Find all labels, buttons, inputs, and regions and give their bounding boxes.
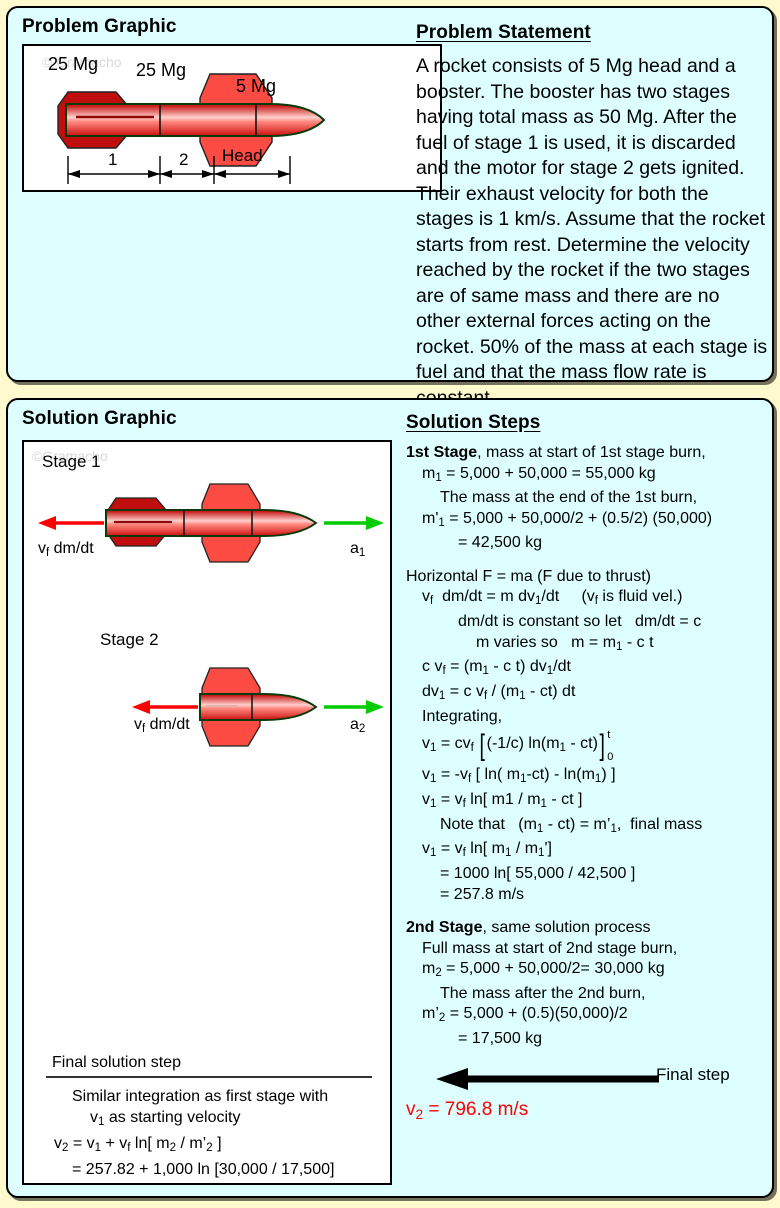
step-h-l4: m varies so m = m1 - c t [406, 633, 774, 658]
stage2-free-body-diagram [24, 654, 390, 784]
step-s2-l4: m’2 = 5,000 + (0.5)(50,000)/2 [406, 1004, 774, 1029]
step-v-l4: v1 = vf ln[ m1 / m1'] [406, 839, 774, 864]
thrust-label-stage1: vf dm/dt [38, 540, 94, 559]
problem-panel: Problem Graphic © Gramacho [6, 6, 774, 382]
step-v-l1: v1 = -vf [ ln( m1-ct) - ln(m1) ] [406, 765, 774, 790]
stage1-free-body-diagram [24, 464, 390, 614]
step-h-l5: c vf = (m1 - c t) dv1/dt [406, 657, 774, 682]
step-1st-stage-heading: 1st Stage, mass at start of 1st stage bu… [406, 443, 774, 464]
step-s1-l2: The mass at the end of the 1st burn, [406, 488, 774, 509]
step-h-l6: dv1 = c vf / (m1 - ct) dt [406, 682, 774, 707]
bracket-close-icon: ] [599, 734, 604, 758]
solution-graphic-box: ©Gramacho Stage 1 [22, 440, 392, 1185]
step-s1-l1: m1 = 5,000 + 50,000 = 55,000 kg [406, 464, 774, 489]
solution-graphic-title: Solution Graphic [22, 408, 177, 430]
step-h-l3: dm/dt is constant so let dm/dt = c [406, 612, 774, 633]
final-solution-step-body: Similar integration as first stage with … [38, 1086, 380, 1185]
stage2-label: Stage 2 [100, 630, 159, 650]
page-root: Problem Graphic © Gramacho [0, 0, 780, 1208]
step-s1-l4: = 42,500 kg [406, 533, 774, 554]
thrust-label-stage2: vf dm/dt [134, 716, 190, 735]
final-solution-step-box: Final solution step Similar integration … [38, 1054, 380, 1185]
final-step-arrow-row: Final step [406, 1060, 774, 1094]
final-line-1: Similar integration as first stage with [38, 1086, 380, 1107]
step-h-l7: Integrating, [406, 707, 774, 728]
problem-statement-block: Problem Statement A rocket consists of 5… [416, 22, 768, 411]
solution-panel: Solution Graphic ©Gramacho Stage 1 [6, 398, 774, 1198]
left-arrow-icon [434, 1068, 664, 1090]
step-s2-l3: The mass after the 2nd burn, [406, 984, 774, 1005]
divider [46, 1076, 372, 1078]
final-step-label: Final step [656, 1065, 730, 1086]
problem-statement-text: A rocket consists of 5 Mg head and a boo… [416, 54, 768, 411]
integral-limits: t 0 [607, 731, 613, 761]
bracket-open-icon: [ [480, 734, 485, 758]
solution-steps-title: Solution Steps [406, 412, 774, 434]
dimension-label-2: 2 [179, 150, 188, 170]
step-s1-l3: m'1 = 5,000 + 50,000/2 + (0.5/2) (50,000… [406, 509, 774, 534]
dimension-label-head: Head [222, 146, 263, 166]
problem-statement-title: Problem Statement [416, 22, 768, 44]
mass-label-head: 5 Mg [236, 76, 276, 97]
final-line-5: = 257.8 + 539.0 [38, 1180, 380, 1185]
step-h-l2: vf dm/dt = m dv1/dt (vf is fluid vel.) [406, 587, 774, 612]
mass-label-stage2: 25 Mg [136, 60, 186, 81]
spacer [406, 905, 774, 918]
problem-graphic-title: Problem Graphic [22, 16, 177, 38]
accel-label-stage1: a1 [350, 540, 365, 559]
step-v-l5: = 1000 ln[ 55,000 / 42,500 ] [406, 864, 774, 885]
step-2nd-stage-heading: 2nd Stage, same solution process [406, 918, 774, 939]
final-line-2: v1 as starting velocity [38, 1107, 380, 1133]
solution-steps-body: 1st Stage, mass at start of 1st stage bu… [406, 443, 774, 1125]
step-s2-l5: = 17,500 kg [406, 1029, 774, 1050]
final-line-3: v2 = v1 + vf ln[ m2 / m’2 ] [38, 1133, 380, 1159]
step-integral-line: v1 = cvf [ (-1/c) ln(m1 - ct) ] t 0 [406, 731, 774, 761]
step-v-l6: = 257.8 m/s [406, 885, 774, 906]
final-answer: v2 = 796.8 m/s [406, 1100, 774, 1125]
step-h-l1: Horizontal F = ma (F due to thrust) [406, 567, 774, 588]
step-v-l2: v1 = vf ln[ m1 / m1 - ct ] [406, 790, 774, 815]
step-v-l3: Note that (m1 - ct) = m’1, final mass [406, 815, 774, 840]
final-line-4: = 257.82 + 1,000 ln [30,000 / 17,500] [38, 1159, 380, 1180]
problem-graphic-box: © Gramacho [22, 44, 442, 192]
spacer [406, 554, 774, 567]
final-solution-step-title: Final solution step [38, 1054, 380, 1072]
solution-steps-block: Solution Steps 1st Stage, mass at start … [406, 412, 774, 1125]
dimension-label-1: 1 [108, 150, 117, 170]
step-s2-l1: Full mass at start of 2nd stage burn, [406, 939, 774, 960]
step-s2-l2: m2 = 5,000 + 50,000/2= 30,000 kg [406, 959, 774, 984]
accel-label-stage2: a2 [350, 716, 365, 735]
mass-label-stage1: 25 Mg [48, 54, 98, 75]
